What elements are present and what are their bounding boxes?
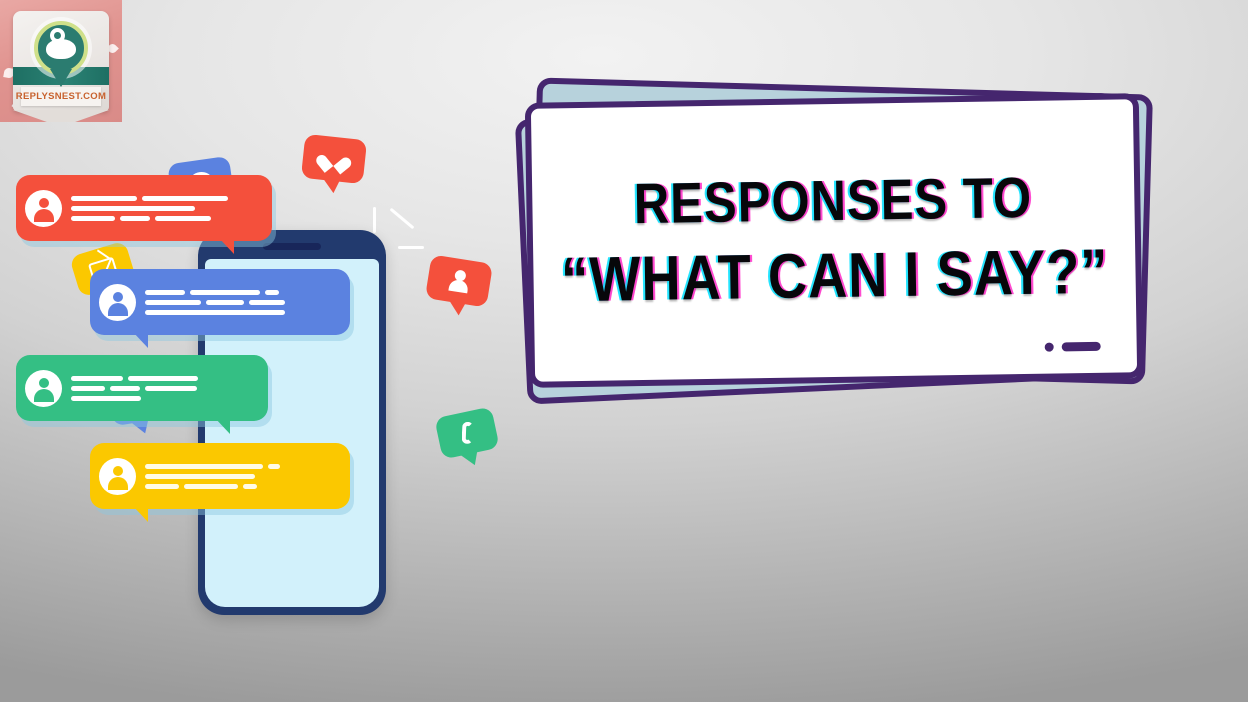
spark-line-icon bbox=[373, 207, 376, 233]
title-line-2: “WHAT CAN I SAY?” bbox=[560, 240, 1108, 313]
avatar bbox=[99, 458, 136, 495]
brand-text: REPLYSNEST.COM bbox=[16, 91, 106, 102]
bubble-tail bbox=[132, 505, 148, 522]
dash-mark-icon bbox=[1062, 342, 1101, 352]
replysnest-watermark: REPLYSNEST.COM bbox=[0, 0, 122, 122]
heart-glyph bbox=[322, 148, 346, 170]
title-card: RESPONSES TO “WHAT CAN I SAY?” bbox=[525, 93, 1143, 388]
avatar bbox=[25, 190, 62, 227]
message-lines bbox=[62, 196, 272, 221]
location-pin-icon bbox=[34, 21, 88, 75]
person-icon bbox=[425, 254, 493, 307]
heart-icon bbox=[301, 134, 367, 184]
avatar bbox=[25, 370, 62, 407]
logo-ribbon: REPLYSNEST.COM bbox=[21, 87, 101, 106]
phone-call-icon bbox=[434, 406, 499, 459]
bubble-tail bbox=[132, 331, 148, 348]
chat-illustration bbox=[60, 125, 520, 635]
bird-icon bbox=[46, 39, 76, 59]
card-corner-mark bbox=[1045, 342, 1101, 352]
title-line-1: RESPONSES TO bbox=[634, 169, 1033, 233]
spark-line-icon bbox=[390, 208, 415, 230]
chat-bubble-green bbox=[16, 355, 268, 421]
chat-bubble-blue bbox=[90, 269, 350, 335]
bubble-tail bbox=[218, 237, 234, 254]
phone-speaker bbox=[263, 243, 321, 250]
message-lines bbox=[136, 464, 350, 489]
chat-bubble-yellow bbox=[90, 443, 350, 509]
spark-line-icon bbox=[398, 246, 424, 249]
message-lines bbox=[136, 290, 350, 315]
logo-shield: REPLYSNEST.COM bbox=[13, 11, 109, 111]
handset-glyph bbox=[461, 422, 473, 444]
title-card-stack: RESPONSES TO “WHAT CAN I SAY?” bbox=[515, 78, 1165, 428]
bubble-tail bbox=[214, 417, 230, 434]
chat-bubble-red bbox=[16, 175, 272, 241]
person-glyph bbox=[445, 267, 472, 294]
dot-mark-icon bbox=[1045, 343, 1054, 352]
avatar bbox=[99, 284, 136, 321]
message-lines bbox=[62, 376, 268, 401]
